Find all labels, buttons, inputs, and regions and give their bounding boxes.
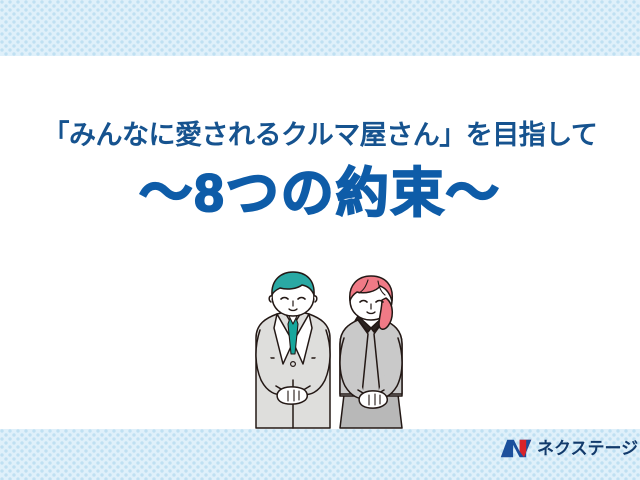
staff-illustration-svg bbox=[236, 268, 416, 436]
female-staff-figure bbox=[340, 276, 402, 428]
headline-block: 「みんなに愛されるクルマ屋さん」を目指して 〜8つの約束〜 bbox=[0, 120, 640, 223]
nextage-n-mark-icon bbox=[500, 437, 532, 460]
nextage-logo: ネクステージ bbox=[500, 437, 638, 460]
staff-illustration bbox=[236, 268, 416, 436]
headline-line-2: 〜8つの約束〜 bbox=[0, 165, 640, 223]
headline-line-1: 「みんなに愛されるクルマ屋さん」を目指して bbox=[0, 120, 640, 151]
nextage-logo-text: ネクステージ bbox=[537, 440, 638, 457]
male-staff-figure bbox=[256, 272, 330, 428]
top-dot-band bbox=[0, 0, 640, 56]
slide-canvas: 「みんなに愛されるクルマ屋さん」を目指して 〜8つの約束〜 bbox=[0, 0, 640, 480]
